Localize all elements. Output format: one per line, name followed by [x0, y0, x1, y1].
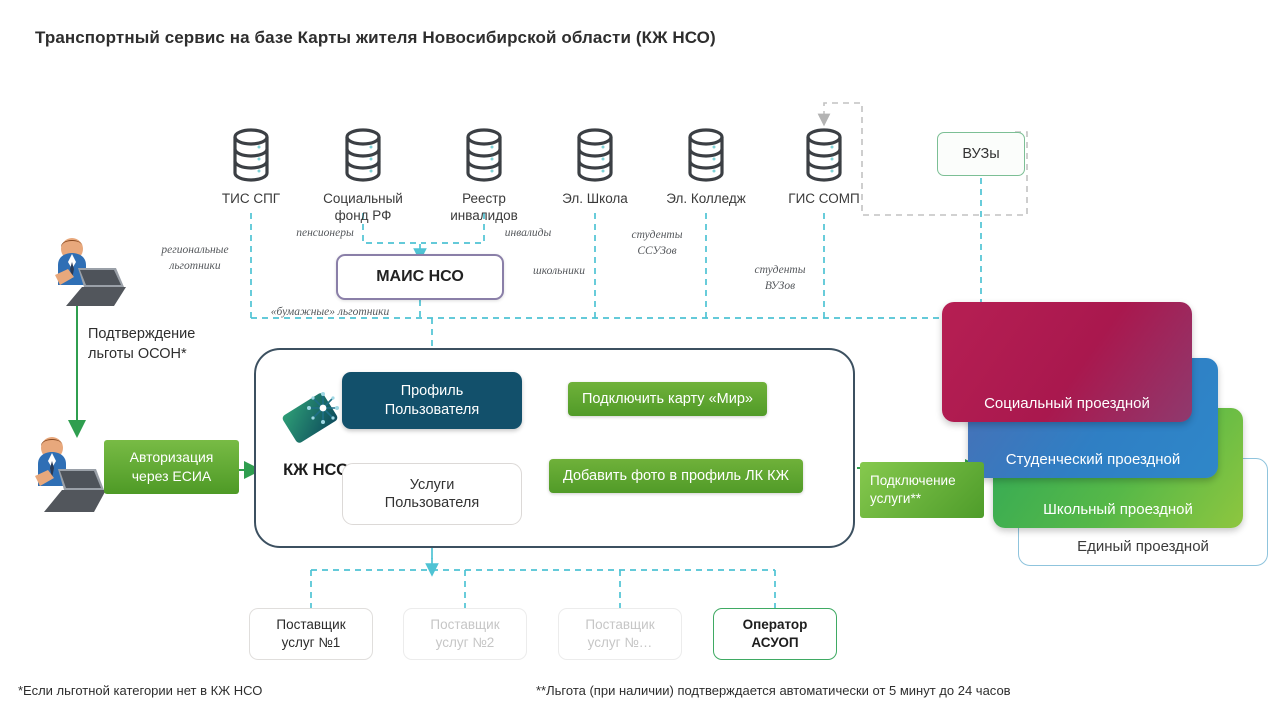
connect-mir-card-button[interactable]: Подключить карту «Мир»	[568, 382, 767, 416]
user-icon-bottom	[10, 432, 110, 519]
supplier-box-2[interactable]: Поставщик услуг №2	[403, 608, 527, 660]
flow-label-ssuz-students: студенты ССУЗов	[612, 228, 702, 259]
source-node-el-shkola[interactable]: Эл. Школа	[535, 127, 655, 208]
connect-service-badge[interactable]: Подключение услуги**	[860, 462, 984, 518]
source-label-line1: ГИС СОМП	[788, 191, 859, 206]
flow-label-schoolchildren: школьники	[514, 264, 604, 280]
node-mais-nso[interactable]: МАИС НСО	[336, 254, 504, 300]
diagram-canvas: Транспортный сервис на базе Карты жителя…	[0, 0, 1273, 711]
supplier-box-3[interactable]: Поставщик услуг №…	[558, 608, 682, 660]
esia-auth-button[interactable]: Авторизация через ЕСИА	[104, 440, 239, 494]
supplier-1-line1: Поставщик	[276, 616, 345, 634]
travel-card-unified-label: Единый проездной	[1077, 538, 1209, 555]
operator-asuop-box[interactable]: Оператор АСУОП	[713, 608, 837, 660]
source-label-line1: ТИС СПГ	[222, 191, 280, 206]
source-node-social-fund[interactable]: Социальный фонд РФ	[303, 127, 423, 225]
database-icon	[572, 127, 618, 183]
user-services-line1: Услуги	[385, 476, 479, 494]
flow-label-invalids: инвалиды	[478, 226, 578, 242]
source-label-line1: Реестр	[424, 191, 544, 208]
source-node-gis-somp[interactable]: ГИС СОМП	[764, 127, 884, 208]
travel-card-school-label: Школьный проездной	[1043, 501, 1193, 518]
connect-service-line2: услуги**	[870, 490, 921, 508]
database-icon	[461, 127, 507, 183]
operator-line2: АСУОП	[743, 634, 808, 652]
database-icon	[801, 127, 847, 183]
connect-mir-card-label: Подключить карту «Мир»	[582, 391, 753, 407]
user-services-box[interactable]: Услуги Пользователя	[342, 463, 522, 525]
user-icon-top	[30, 235, 130, 312]
page-title: Транспортный сервис на базе Карты жителя…	[35, 28, 716, 48]
supplier-2-line2: услуг №2	[430, 634, 499, 652]
database-icon	[340, 127, 386, 183]
node-vuzy[interactable]: ВУЗы	[937, 132, 1025, 176]
esia-label-line2: через ЕСИА	[132, 467, 212, 486]
database-icon	[683, 127, 729, 183]
esia-label-line1: Авторизация	[130, 448, 214, 467]
source-label-line1: Эл. Школа	[562, 191, 628, 206]
user-profile-line2: Пользователя	[385, 401, 479, 419]
source-label: ГИС СОМП	[764, 191, 884, 208]
flow-label-vuz-students: студенты ВУЗов	[735, 263, 825, 294]
travel-card-social-label: Социальный проездной	[984, 395, 1150, 412]
travel-card-social[interactable]: Социальный проездной	[942, 302, 1192, 422]
source-label: Социальный фонд РФ	[303, 191, 423, 225]
node-mais-nso-label: МАИС НСО	[376, 268, 464, 286]
add-photo-label: Добавить фото в профиль ЛК КЖ	[563, 468, 789, 484]
database-icon	[228, 127, 274, 183]
source-label: Эл. Колледж	[646, 191, 766, 208]
flow-label-pensioners: пенсионеры	[270, 226, 380, 242]
flow-label-paper-beneficiaries: «бумажные» льготники	[245, 305, 415, 321]
user-profile-line1: Профиль	[385, 382, 479, 400]
supplier-2-line1: Поставщик	[430, 616, 499, 634]
user-profile-box[interactable]: Профиль Пользователя	[342, 372, 522, 429]
source-node-invalid-registry[interactable]: Реестр инвалидов	[424, 127, 544, 225]
operator-line1: Оператор	[743, 616, 808, 634]
source-node-el-kolledzh[interactable]: Эл. Колледж	[646, 127, 766, 208]
flow-label-regional: региональные льготники	[140, 243, 250, 274]
node-vuzy-label: ВУЗы	[962, 146, 999, 162]
source-label: Эл. Школа	[535, 191, 655, 208]
source-label: Реестр инвалидов	[424, 191, 544, 225]
add-photo-button[interactable]: Добавить фото в профиль ЛК КЖ	[549, 459, 803, 493]
source-label: ТИС СПГ	[191, 191, 311, 208]
footnote-right: **Льгота (при наличии) подтверждается ав…	[536, 683, 1011, 698]
source-node-tis-spg[interactable]: ТИС СПГ	[191, 127, 311, 208]
source-label-line1: Эл. Колледж	[666, 191, 746, 206]
user-services-line2: Пользователя	[385, 494, 479, 512]
supplier-3-line1: Поставщик	[585, 616, 654, 634]
connect-service-line1: Подключение	[870, 472, 956, 490]
source-label-line2: инвалидов	[424, 208, 544, 225]
supplier-box-1[interactable]: Поставщик услуг №1	[249, 608, 373, 660]
confirm-benefit-note: Подтверждение льготы ОСОН*	[88, 325, 248, 364]
source-label-line2: фонд РФ	[303, 208, 423, 225]
footnote-left: *Если льготной категории нет в КЖ НСО	[18, 683, 262, 698]
supplier-3-line2: услуг №…	[585, 634, 654, 652]
travel-card-student-label: Студенческий проездной	[1006, 451, 1181, 468]
source-label-line1: Социальный	[303, 191, 423, 208]
supplier-1-line2: услуг №1	[276, 634, 345, 652]
